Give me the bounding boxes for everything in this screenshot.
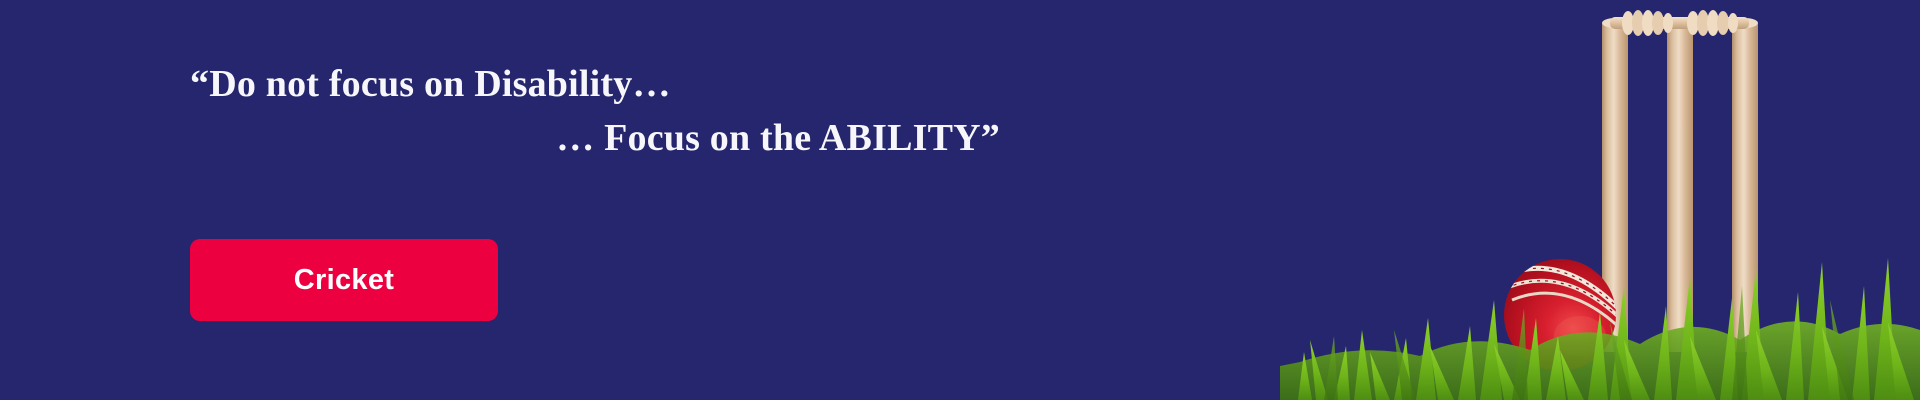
quote-line-secondary: … Focus on the ABILITY” bbox=[190, 116, 1000, 160]
grass bbox=[1280, 258, 1920, 400]
stumps bbox=[1602, 18, 1758, 352]
cricket-button[interactable]: Cricket bbox=[190, 239, 498, 321]
bails bbox=[1610, 10, 1749, 36]
cricket-ball bbox=[1502, 259, 1628, 371]
quote-block: “Do not focus on Disability… … Focus on … bbox=[190, 62, 1000, 160]
cricket-quote-banner: “Do not focus on Disability… … Focus on … bbox=[0, 0, 1920, 400]
cricket-illustration bbox=[1280, 0, 1920, 400]
quote-line-primary: “Do not focus on Disability… bbox=[190, 62, 1000, 106]
